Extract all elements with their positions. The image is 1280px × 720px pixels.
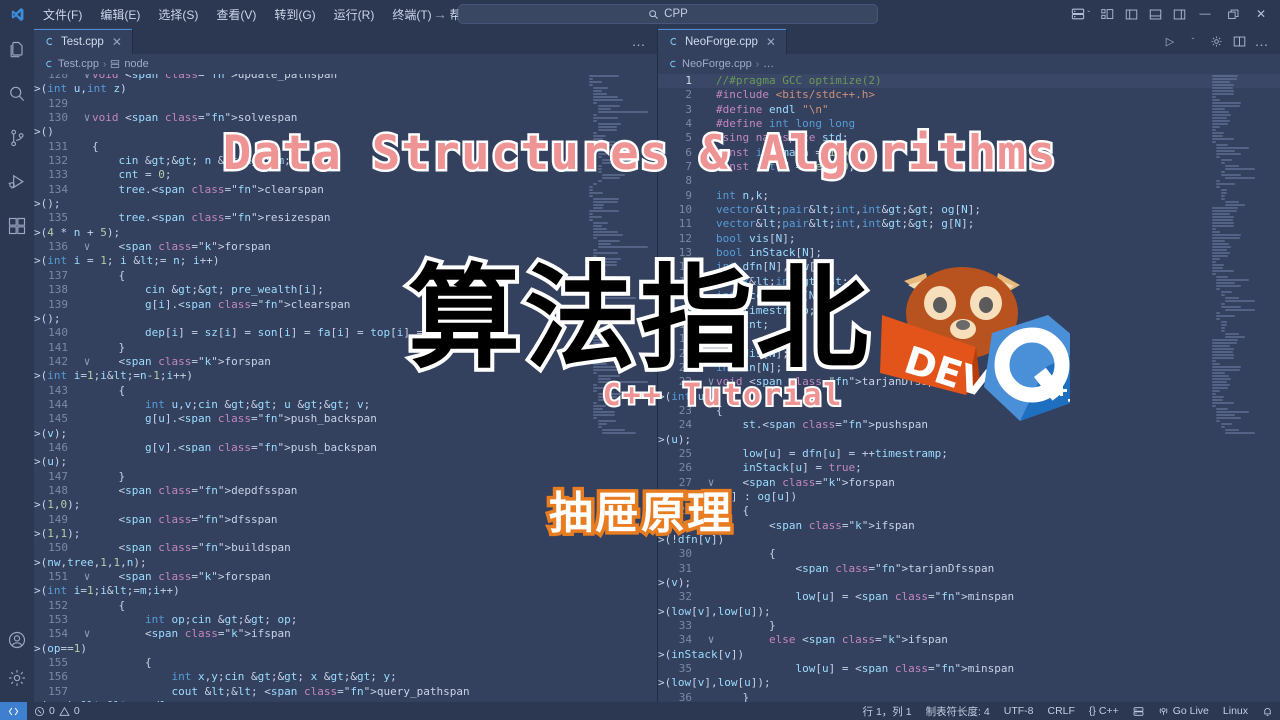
broadcast-icon [1158, 706, 1169, 717]
cpp-file-icon [44, 59, 54, 69]
menu-run[interactable]: 运行(R) [325, 3, 384, 26]
window-close-button[interactable]: ✕ [1248, 3, 1274, 25]
status-live-share[interactable] [1126, 702, 1151, 720]
title-bar-right: ˇ — ✕ [1067, 3, 1280, 25]
editor-group-container: Test.cpp ✕ … Test.cpp › node 128∨void <s… [34, 28, 1280, 702]
error-icon [34, 706, 45, 717]
restore-icon [1227, 8, 1240, 21]
symbol-struct-icon [110, 59, 120, 69]
status-notifications[interactable] [1255, 702, 1280, 720]
live-share-icon [1133, 706, 1144, 717]
activity-settings[interactable] [0, 664, 34, 692]
vscode-logo-icon [0, 7, 34, 22]
breadcrumb-file[interactable]: Test.cpp [58, 58, 99, 70]
editor-settings-button[interactable] [1206, 31, 1226, 51]
extensions-icon [7, 216, 27, 236]
status-cursor-position[interactable]: 行 1，列 1 [856, 702, 919, 720]
tab-close-icon[interactable]: ✕ [766, 36, 776, 48]
minimap-left[interactable] [585, 74, 643, 702]
remote-indicator-icon [8, 706, 19, 717]
breadcrumb-symbol[interactable]: … [763, 58, 774, 70]
status-go-live[interactable]: Go Live [1151, 702, 1216, 720]
error-count: 0 [49, 705, 55, 717]
editor-left-code[interactable]: 128∨void <span class="fn">update_pathspa… [34, 74, 657, 702]
editor-right: NeoForge.cpp ✕ ▷ ˇ … [657, 28, 1280, 702]
gear-icon [1210, 35, 1223, 48]
tab-test-cpp[interactable]: Test.cpp ✕ [34, 28, 133, 54]
tab-label: NeoForge.cpp [685, 36, 758, 48]
toggle-panel-right-icon[interactable] [1168, 3, 1190, 25]
status-remote-indicator[interactable] [0, 702, 27, 720]
activity-bar [0, 28, 34, 702]
breadcrumb-file[interactable]: NeoForge.cpp [682, 58, 752, 70]
editor-left: Test.cpp ✕ … Test.cpp › node 128∨void <s… [34, 28, 657, 702]
status-bar: 0 0 行 1，列 1 制表符长度: 4 UTF-8 CRLF {} C++ G… [0, 702, 1280, 720]
tab-label: Test.cpp [61, 36, 104, 48]
editor-left-tab-actions: … [629, 28, 657, 54]
source-control-icon [7, 128, 27, 148]
activity-accounts[interactable] [0, 626, 34, 654]
editor-left-more-actions[interactable]: … [629, 31, 649, 51]
search-icon [648, 9, 659, 20]
bell-icon [1262, 706, 1273, 717]
editor-right-breadcrumb: NeoForge.cpp › … [658, 54, 1280, 74]
activity-explorer[interactable] [0, 36, 34, 64]
editor-left-breadcrumb: Test.cpp › node [34, 54, 657, 74]
activity-run-debug[interactable] [0, 168, 34, 196]
split-editor-button[interactable] [1229, 31, 1249, 51]
customize-layout-icon[interactable] [1096, 3, 1118, 25]
editor-right-more-actions[interactable]: … [1252, 31, 1272, 51]
status-platform[interactable]: Linux [1216, 702, 1255, 720]
menu-go[interactable]: 转到(G) [265, 3, 324, 26]
search-icon [7, 84, 27, 104]
scrollbar-left[interactable] [643, 74, 657, 702]
activity-extensions[interactable] [0, 212, 34, 240]
activity-bar-bottom [0, 626, 34, 702]
play-icon: ▷ [1166, 35, 1174, 48]
menu-edit[interactable]: 编辑(E) [91, 3, 149, 26]
remote-account-button[interactable]: ˇ [1067, 7, 1094, 21]
editor-left-tabs: Test.cpp ✕ … [34, 28, 657, 54]
editor-right-code[interactable]: 1//#pragma GCC optimize(2)2#include <bit… [658, 74, 1280, 702]
forward-arrow-icon[interactable]: → [432, 7, 448, 21]
back-arrow-icon[interactable]: ← [402, 7, 418, 21]
warning-icon [59, 706, 70, 717]
status-encoding[interactable]: UTF-8 [997, 702, 1041, 720]
workbench-body: Test.cpp ✕ … Test.cpp › node 128∨void <s… [0, 28, 1280, 702]
more-icon: … [632, 38, 647, 45]
activity-search[interactable] [0, 80, 34, 108]
activity-source-control[interactable] [0, 124, 34, 152]
status-bar-right: 行 1，列 1 制表符长度: 4 UTF-8 CRLF {} C++ Go Li… [856, 702, 1280, 720]
run-code-button[interactable]: ▷ [1160, 31, 1180, 51]
menu-view[interactable]: 查看(V) [207, 3, 265, 26]
split-editor-icon [1233, 35, 1246, 48]
status-problems[interactable]: 0 0 [27, 702, 87, 720]
run-options-chevron[interactable]: ˇ [1183, 31, 1203, 51]
status-indentation[interactable]: 制表符长度: 4 [919, 702, 997, 720]
window-restore-button[interactable] [1220, 3, 1246, 25]
breadcrumb-separator: › [103, 59, 106, 70]
minimize-icon: — [1200, 11, 1211, 17]
tab-neoforge-cpp[interactable]: NeoForge.cpp ✕ [658, 28, 787, 54]
code-left-content[interactable]: 128∨void <span class="fn">update_pathspa… [34, 74, 657, 702]
scrollbar-right[interactable] [1266, 74, 1280, 702]
cpp-file-icon [44, 36, 55, 47]
search-value: CPP [664, 8, 688, 20]
menu-selection[interactable]: 选择(S) [149, 3, 207, 26]
navigation-arrows: ← → [402, 7, 448, 21]
files-icon [7, 40, 27, 60]
toggle-panel-bottom-icon[interactable] [1144, 3, 1166, 25]
chevron-down-icon: ˇ [1192, 37, 1195, 46]
menu-file[interactable]: 文件(F) [34, 3, 91, 26]
status-eol[interactable]: CRLF [1041, 702, 1082, 720]
cpp-file-icon [668, 59, 678, 69]
breadcrumb-separator: › [756, 59, 759, 70]
editor-right-tabs: NeoForge.cpp ✕ ▷ ˇ … [658, 28, 1280, 54]
command-center-search[interactable]: CPP [458, 4, 878, 24]
minimap-right[interactable] [1208, 74, 1266, 702]
window-minimize-button[interactable]: — [1192, 3, 1218, 25]
toggle-panel-left-icon[interactable] [1120, 3, 1142, 25]
gear-icon [7, 668, 27, 688]
go-live-label: Go Live [1173, 705, 1209, 717]
account-icon [7, 630, 27, 650]
editor-right-tab-actions: ▷ ˇ … [1160, 28, 1280, 54]
remote-account-icon [1071, 7, 1085, 21]
code-right-content[interactable]: 1//#pragma GCC optimize(2)2#include <bit… [658, 74, 1280, 702]
chevron-down-icon: ˇ [1087, 10, 1090, 19]
warning-count: 0 [74, 705, 80, 717]
breadcrumb-symbol[interactable]: node [124, 58, 148, 70]
tab-close-icon[interactable]: ✕ [112, 36, 122, 48]
title-bar: 文件(F) 编辑(E) 选择(S) 查看(V) 转到(G) 运行(R) 终端(T… [0, 0, 1280, 28]
run-debug-icon [7, 172, 27, 192]
more-icon: … [1255, 38, 1270, 45]
status-language-mode[interactable]: {} C++ [1082, 702, 1126, 720]
cpp-file-icon [668, 36, 679, 47]
close-icon: ✕ [1256, 9, 1266, 19]
